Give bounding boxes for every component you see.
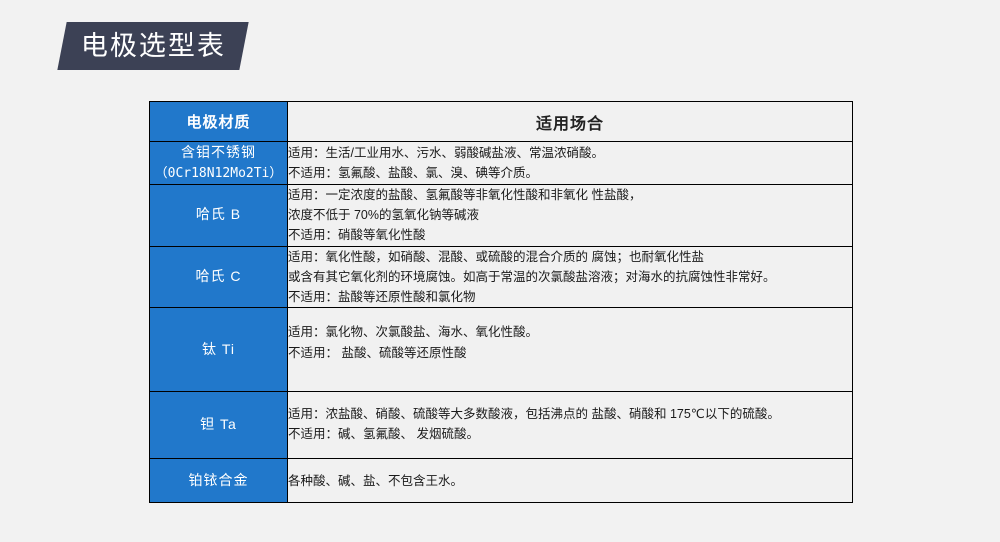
material-code: （0Cr18N12Mo2Ti）: [150, 164, 287, 184]
page-title: 电极选型表: [81, 33, 226, 60]
table-row: 钽 Ta 适用：浓盐酸、硝酸、硫酸等大多数酸液，包括沸点的 盐酸、硝酸和 175…: [150, 391, 853, 459]
table-row: 钛 Ti 适用：氯化物、次氯酸盐、海水、氧化性酸。 不适用： 盐酸、硫酸等还原性…: [150, 308, 853, 392]
material-name: 哈氏 C: [196, 268, 242, 284]
usage-line: 适用：氯化物、次氯酸盐、海水、氧化性酸。: [288, 322, 852, 342]
material-name: 钛 Ti: [202, 341, 235, 357]
usage-cell: 各种酸、碱、盐、不包含王水。: [288, 459, 853, 503]
material-cell: 哈氏 C: [150, 246, 288, 308]
usage-line: 不适用：盐酸等还原性酸和氯化物: [288, 287, 852, 307]
material-name: 哈氏 B: [196, 206, 241, 222]
usage-line: 适用：生活/工业用水、污水、弱酸碱盐液、常温浓硝酸。: [288, 143, 852, 163]
table-header-row: 电极材质 适用场合: [150, 102, 853, 142]
material-cell: 铂铱合金: [150, 459, 288, 503]
usage-line: 或含有其它氧化剂的环境腐蚀。如高于常温的次氯酸盐溶液；对海水的抗腐蚀性非常好。: [288, 267, 852, 287]
material-name: 钽 Ta: [200, 416, 237, 432]
usage-line: 不适用：碱、氢氟酸、 发烟硫酸。: [288, 424, 852, 444]
table-row: 哈氏 C 适用：氧化性酸，如硝酸、混酸、或硫酸的混合介质的 腐蚀；也耐氧化性盐 …: [150, 246, 853, 308]
table-row: 铂铱合金 各种酸、碱、盐、不包含王水。: [150, 459, 853, 503]
usage-line: 不适用： 盐酸、硫酸等还原性酸: [288, 343, 852, 363]
usage-line: 适用：氧化性酸，如硝酸、混酸、或硫酸的混合介质的 腐蚀；也耐氧化性盐: [288, 247, 852, 267]
page-title-banner: 电极选型表: [57, 22, 248, 70]
usage-line: 适用：一定浓度的盐酸、氢氟酸等非氧化性酸和非氧化 性盐酸，: [288, 185, 852, 205]
usage-line: 各种酸、碱、盐、不包含王水。: [288, 471, 852, 491]
table-row: 哈氏 B 适用：一定浓度的盐酸、氢氟酸等非氧化性酸和非氧化 性盐酸， 浓度不低于…: [150, 184, 853, 246]
usage-line: 不适用：氢氟酸、盐酸、氯、溴、碘等介质。: [288, 163, 852, 183]
usage-cell: 适用：氧化性酸，如硝酸、混酸、或硫酸的混合介质的 腐蚀；也耐氧化性盐 或含有其它…: [288, 246, 853, 308]
column-header-usage: 适用场合: [288, 102, 853, 142]
material-cell: 含钼不锈钢 （0Cr18N12Mo2Ti）: [150, 142, 288, 185]
table-row: 含钼不锈钢 （0Cr18N12Mo2Ti） 适用：生活/工业用水、污水、弱酸碱盐…: [150, 142, 853, 185]
material-name: 含钼不锈钢: [181, 144, 256, 160]
material-cell: 哈氏 B: [150, 184, 288, 246]
usage-cell: 适用：一定浓度的盐酸、氢氟酸等非氧化性酸和非氧化 性盐酸， 浓度不低于 70%的…: [288, 184, 853, 246]
electrode-selection-table: 电极材质 适用场合 含钼不锈钢 （0Cr18N12Mo2Ti） 适用：生活/工业…: [149, 101, 853, 503]
usage-line: 浓度不低于 70%的氢氧化钠等碱液: [288, 205, 852, 225]
column-header-material: 电极材质: [150, 102, 288, 142]
usage-line: 适用：浓盐酸、硝酸、硫酸等大多数酸液，包括沸点的 盐酸、硝酸和 175℃以下的硫…: [288, 404, 852, 424]
usage-cell: 适用：浓盐酸、硝酸、硫酸等大多数酸液，包括沸点的 盐酸、硝酸和 175℃以下的硫…: [288, 391, 853, 459]
usage-cell: 适用：氯化物、次氯酸盐、海水、氧化性酸。 不适用： 盐酸、硫酸等还原性酸: [288, 308, 853, 392]
material-name: 铂铱合金: [189, 472, 249, 488]
material-cell: 钽 Ta: [150, 391, 288, 459]
material-cell: 钛 Ti: [150, 308, 288, 392]
usage-line: 不适用：硝酸等氧化性酸: [288, 225, 852, 245]
usage-cell: 适用：生活/工业用水、污水、弱酸碱盐液、常温浓硝酸。 不适用：氢氟酸、盐酸、氯、…: [288, 142, 853, 185]
